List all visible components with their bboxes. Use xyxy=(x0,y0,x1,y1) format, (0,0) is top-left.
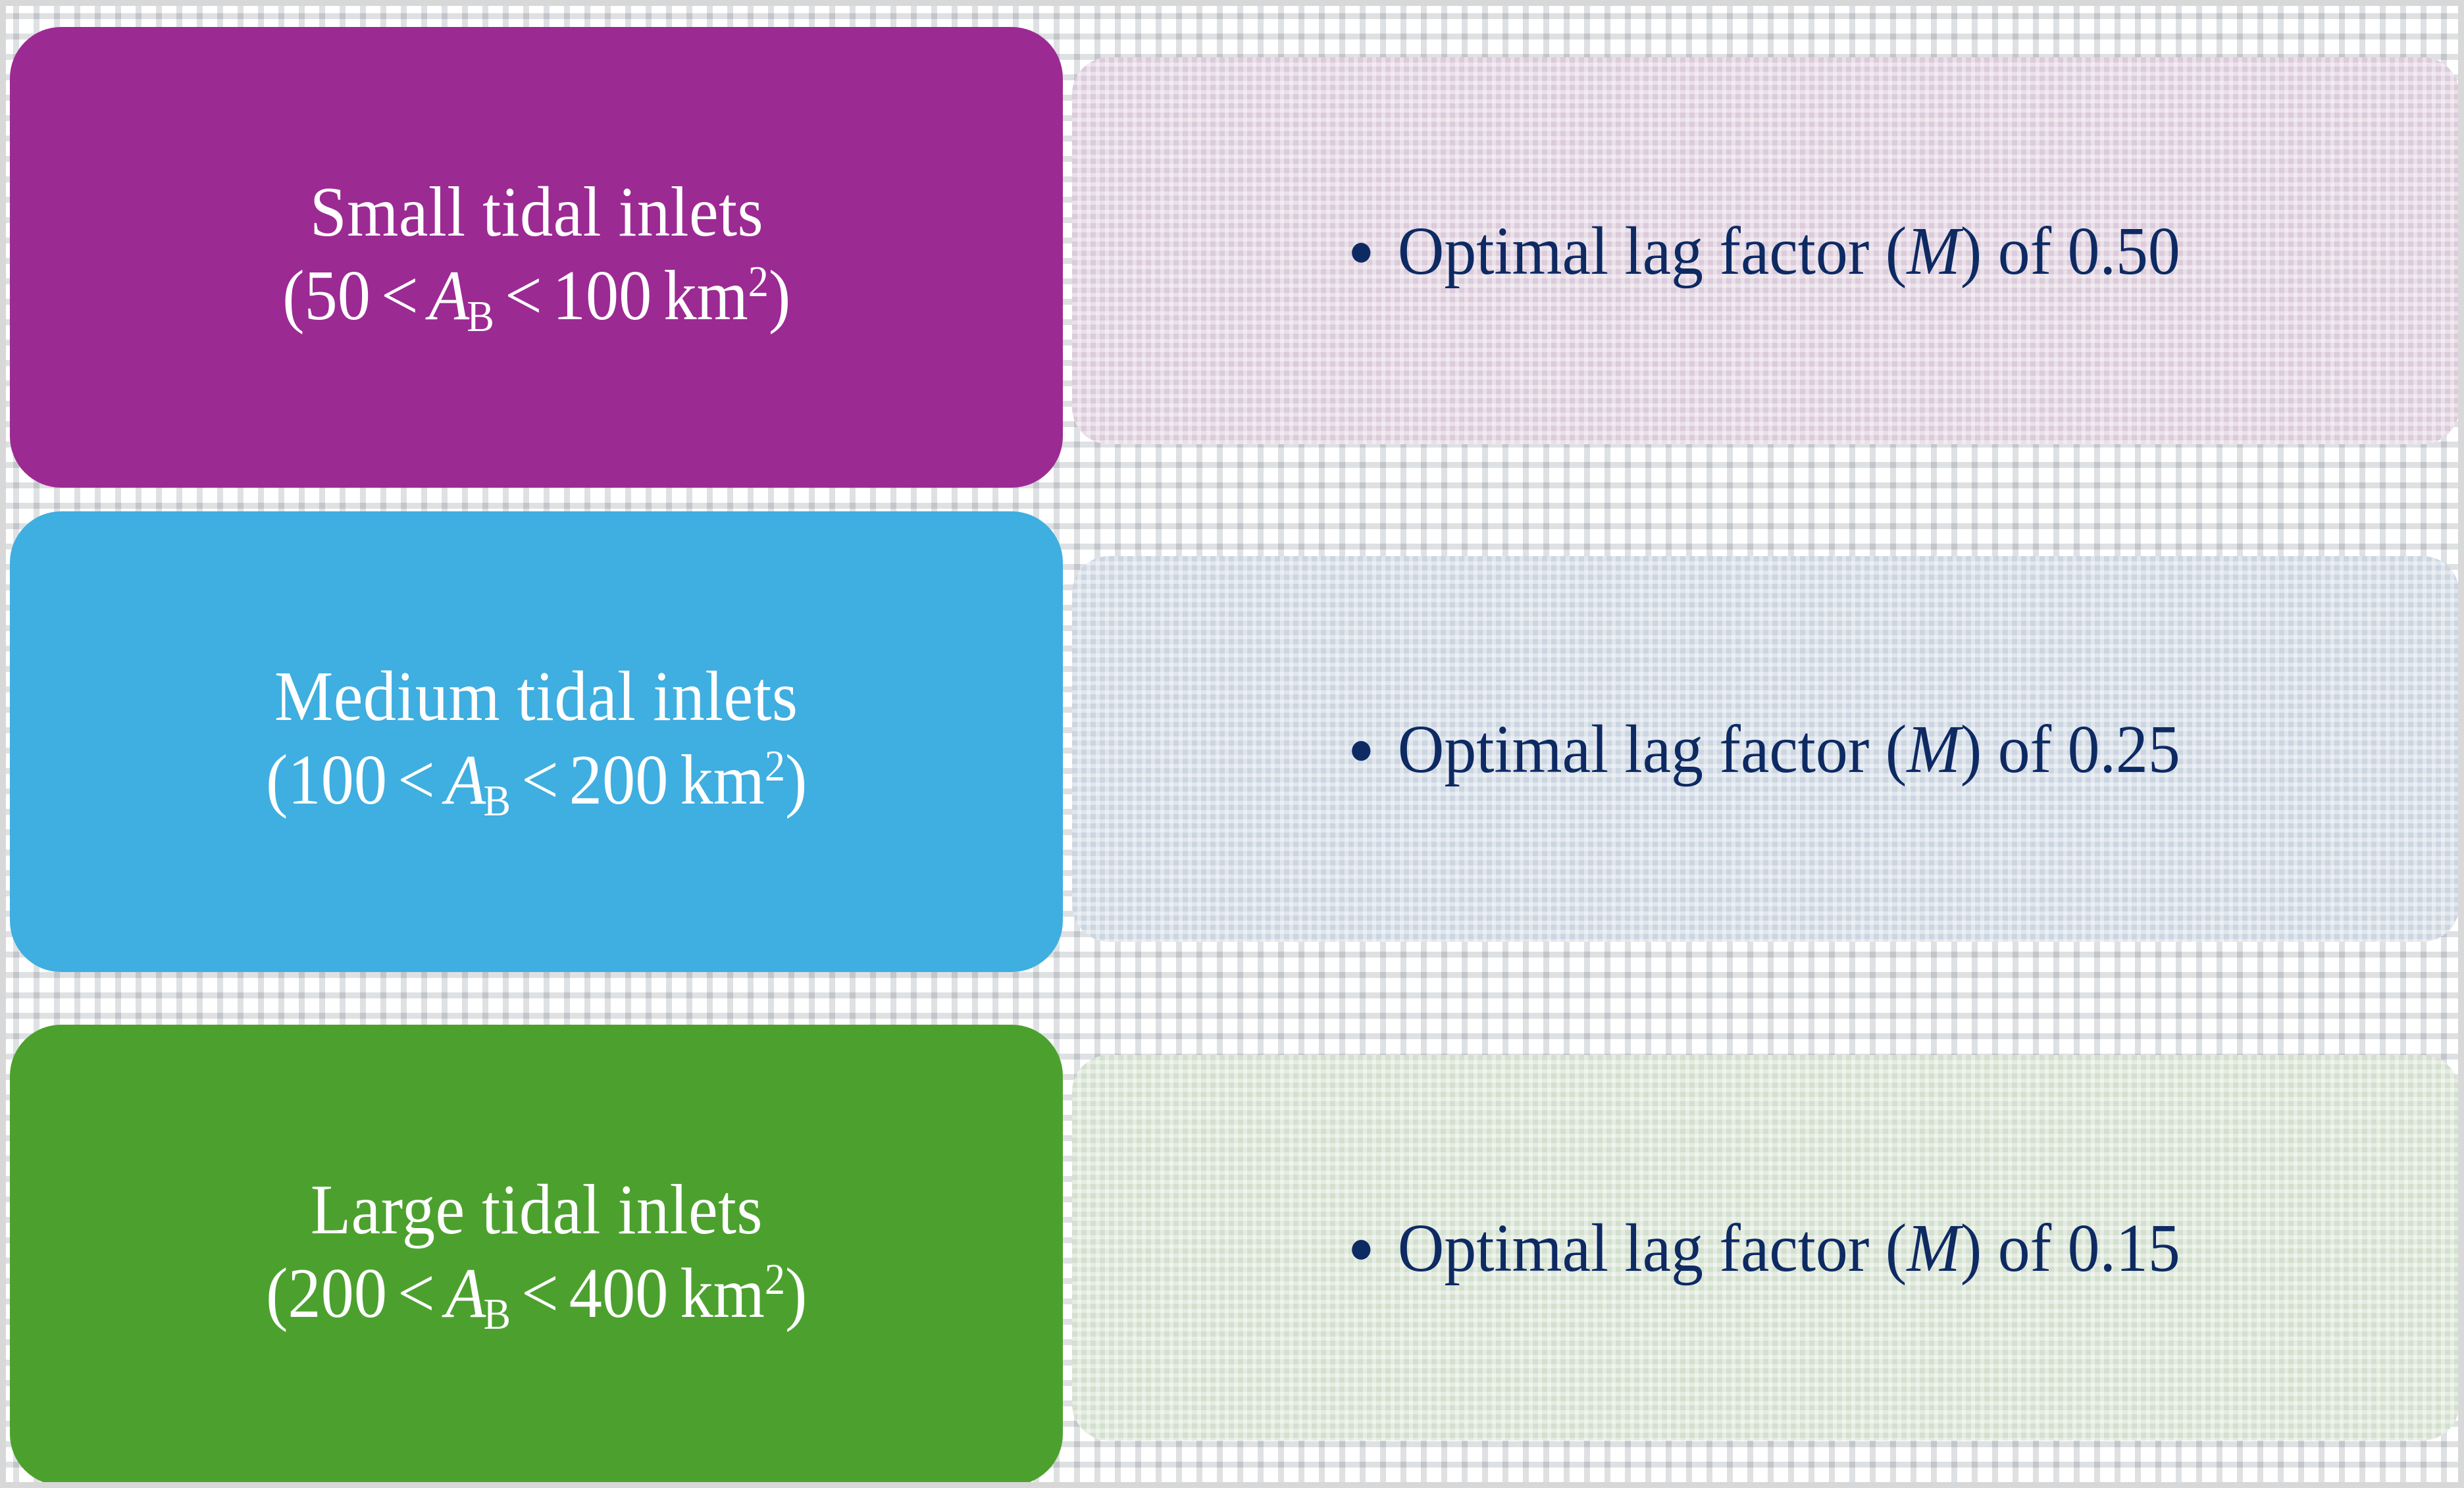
range-upper-bound: 400 xyxy=(569,1254,669,1333)
range-lower-bound: 100 xyxy=(288,741,387,819)
bullet-variable: M xyxy=(1907,711,1960,787)
bullet-text-large: Optimal lag factor (M) of 0.15 xyxy=(1397,1209,2180,1287)
bullet-item-small: Optimal lag factor (M) of 0.50 xyxy=(1352,212,2180,290)
category-title-medium: Medium tidal inlets xyxy=(274,657,798,737)
range-open-paren: ( xyxy=(282,257,304,335)
bullet-suffix: ) of 0.25 xyxy=(1960,711,2180,787)
category-range-medium: (100<AB<200km2) xyxy=(266,741,808,827)
range-upper-bound: 100 xyxy=(552,257,652,335)
category-range-large: (200<AB<400km2) xyxy=(266,1254,808,1340)
detail-panel-small[interactable]: Optimal lag factor (M) of 0.50 xyxy=(1072,57,2459,444)
bullet-suffix: ) of 0.15 xyxy=(1960,1210,2180,1286)
bullet-variable: M xyxy=(1907,1210,1960,1286)
bullet-item-medium: Optimal lag factor (M) of 0.25 xyxy=(1352,710,2180,788)
bullet-dot-icon xyxy=(1352,1240,1370,1260)
bullet-prefix: Optimal lag factor ( xyxy=(1397,213,1907,289)
bullet-prefix: Optimal lag factor ( xyxy=(1397,1210,1907,1286)
bullet-dot-icon xyxy=(1352,243,1370,263)
bullet-text-small: Optimal lag factor (M) of 0.50 xyxy=(1397,212,2180,290)
detail-panel-large[interactable]: Optimal lag factor (M) of 0.15 xyxy=(1072,1055,2459,1441)
range-open-paren: ( xyxy=(266,741,288,819)
range-close-paren: ) xyxy=(785,1254,807,1333)
range-unit-exponent: 2 xyxy=(748,257,769,306)
bullet-suffix: ) of 0.50 xyxy=(1960,213,2180,289)
category-box-small[interactable]: Small tidal inlets (50<AB<100km2) xyxy=(10,27,1063,488)
range-symbol-subscript: B xyxy=(467,292,494,341)
bullet-item-large: Optimal lag factor (M) of 0.15 xyxy=(1352,1209,2180,1287)
range-less-than-1: < xyxy=(398,1254,435,1333)
bullet-text-medium: Optimal lag factor (M) of 0.25 xyxy=(1397,710,2180,788)
range-unit-exponent: 2 xyxy=(765,742,785,790)
detail-panel-medium[interactable]: Optimal lag factor (M) of 0.25 xyxy=(1072,556,2459,942)
range-symbol-subscript: B xyxy=(483,777,511,825)
range-unit: km xyxy=(663,257,748,335)
range-unit-exponent: 2 xyxy=(765,1255,785,1304)
range-upper-bound: 200 xyxy=(569,741,669,819)
range-close-paren: ) xyxy=(785,741,807,819)
range-open-paren: ( xyxy=(266,1254,288,1333)
range-less-than-1: < xyxy=(381,257,419,335)
range-less-than-2: < xyxy=(505,257,542,335)
category-box-large[interactable]: Large tidal inlets (200<AB<400km2) xyxy=(10,1025,1063,1485)
category-range-small: (50<AB<100km2) xyxy=(282,257,790,342)
slide-canvas: Small tidal inlets (50<AB<100km2) Optima… xyxy=(0,0,2464,1488)
range-symbol: A xyxy=(446,741,486,819)
range-close-paren: ) xyxy=(769,257,790,335)
range-symbol-subscript: B xyxy=(483,1290,511,1339)
bullet-variable: M xyxy=(1907,213,1960,289)
bullet-prefix: Optimal lag factor ( xyxy=(1397,711,1907,787)
range-less-than-2: < xyxy=(521,741,559,819)
range-lower-bound: 50 xyxy=(304,257,370,335)
range-symbol: A xyxy=(429,257,469,335)
range-unit: km xyxy=(680,1254,764,1333)
range-lower-bound: 200 xyxy=(288,1254,387,1333)
category-title-large: Large tidal inlets xyxy=(310,1171,762,1250)
range-less-than-2: < xyxy=(521,1254,559,1333)
range-unit: km xyxy=(680,741,764,819)
category-title-small: Small tidal inlets xyxy=(309,173,763,253)
category-box-medium[interactable]: Medium tidal inlets (100<AB<200km2) xyxy=(10,511,1063,972)
bullet-dot-icon xyxy=(1352,741,1370,761)
range-symbol: A xyxy=(446,1254,486,1333)
range-less-than-1: < xyxy=(398,741,435,819)
